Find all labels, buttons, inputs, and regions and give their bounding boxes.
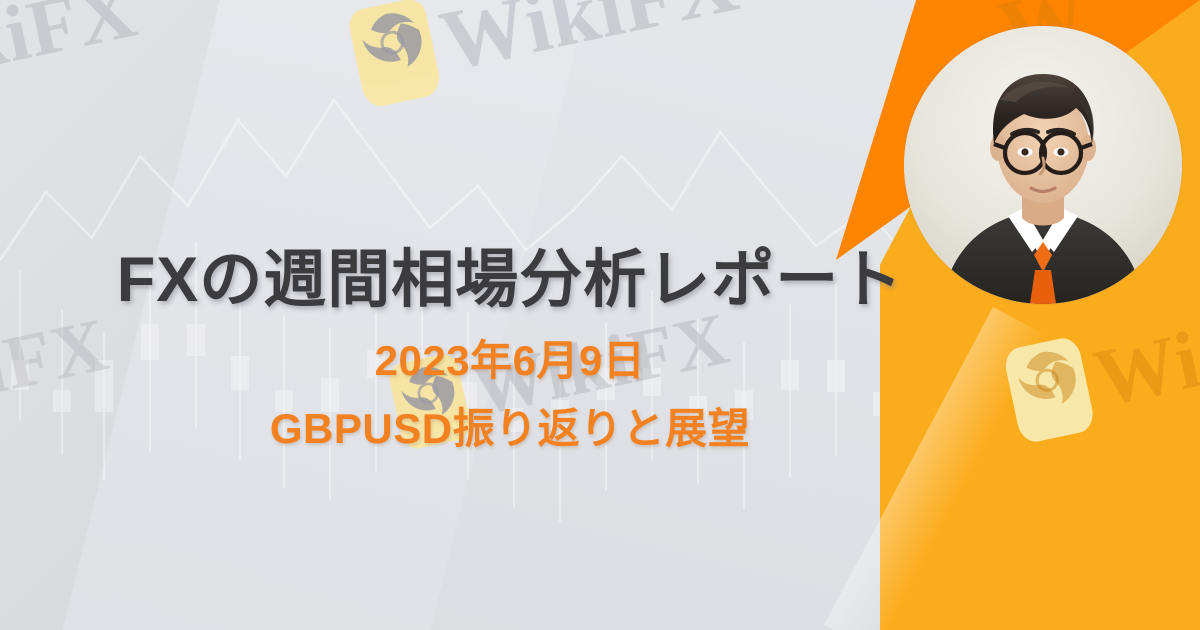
banner-root: kiFX WikiFX kiFX <box>0 0 1200 630</box>
report-date: 2023年6月9日 <box>40 338 980 384</box>
price-trend-line <box>0 100 960 266</box>
page-title: FXの週間相場分析レポート <box>40 246 980 314</box>
report-subtitle: GBPUSD振り返りと展望 <box>40 406 980 452</box>
headline-group: FXの週間相場分析レポート 2023年6月9日 GBPUSD振り返りと展望 <box>40 246 980 452</box>
